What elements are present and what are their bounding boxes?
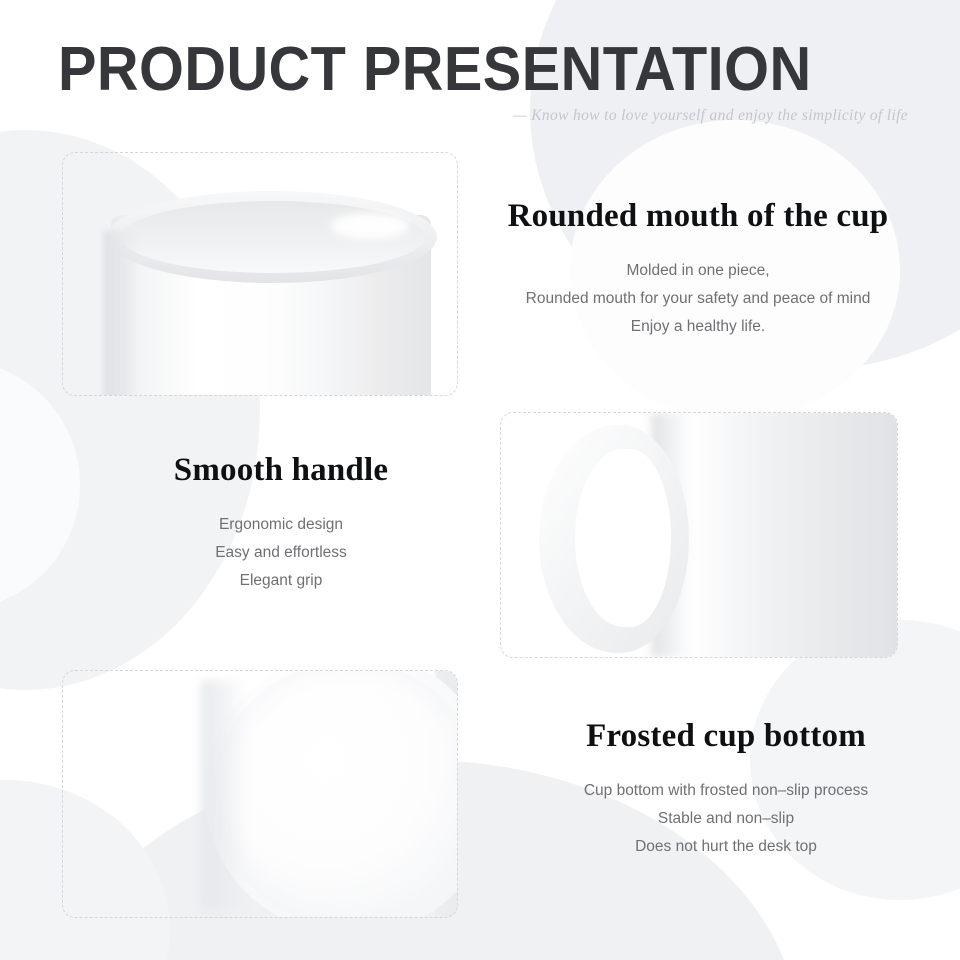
- feature-line: Stable and non–slip: [498, 805, 954, 833]
- mug-bottom-photo: [63, 671, 457, 917]
- product-presentation-page: PRODUCT PRESENTATION — Know how to love …: [0, 0, 960, 960]
- page-subtitle: — Know how to love yourself and enjoy th…: [58, 107, 908, 125]
- photo-panel-smooth-handle: [500, 412, 898, 658]
- page-title: PRODUCT PRESENTATION: [58, 38, 849, 101]
- feature-line: Rounded mouth for your safety and peace …: [470, 285, 926, 313]
- photo-panel-rounded-mouth: [62, 152, 458, 396]
- mug-rim-highlight: [331, 213, 409, 239]
- feature-line: Does not hurt the desk top: [498, 833, 954, 861]
- mug-body-side: [669, 413, 897, 657]
- feature-line: Cup bottom with frosted non–slip process: [498, 777, 954, 805]
- mug-bottom-left-shadow: [201, 681, 247, 911]
- feature-text-frosted-bottom: Frosted cup bottom Cup bottom with frost…: [498, 718, 954, 861]
- feature-line: Molded in one piece,: [470, 257, 926, 285]
- mug-rim-left-shadow: [103, 231, 137, 395]
- feature-heading-rounded-mouth: Rounded mouth of the cup: [470, 198, 926, 235]
- feature-text-smooth-handle: Smooth handle Ergonomic design Easy and …: [58, 452, 504, 595]
- mug-bottom-disc-edge: [213, 671, 457, 917]
- feature-line: Elegant grip: [58, 567, 504, 595]
- mug-handle-opening: [575, 449, 671, 627]
- feature-line: Ergonomic design: [58, 511, 504, 539]
- feature-line: Easy and effortless: [58, 539, 504, 567]
- mug-rim-photo: [63, 153, 457, 395]
- feature-text-rounded-mouth: Rounded mouth of the cup Molded in one p…: [470, 198, 926, 341]
- mug-handle-photo: [501, 413, 897, 657]
- photo-panel-frosted-bottom: [62, 670, 458, 918]
- feature-heading-smooth-handle: Smooth handle: [58, 452, 504, 489]
- feature-lines-smooth-handle: Ergonomic design Easy and effortless Ele…: [58, 511, 504, 595]
- page-header: PRODUCT PRESENTATION — Know how to love …: [58, 38, 908, 125]
- feature-lines-frosted-bottom: Cup bottom with frosted non–slip process…: [498, 777, 954, 861]
- feature-heading-frosted-bottom: Frosted cup bottom: [498, 718, 954, 755]
- feature-line: Enjoy a healthy life.: [470, 313, 926, 341]
- feature-lines-rounded-mouth: Molded in one piece, Rounded mouth for y…: [470, 257, 926, 341]
